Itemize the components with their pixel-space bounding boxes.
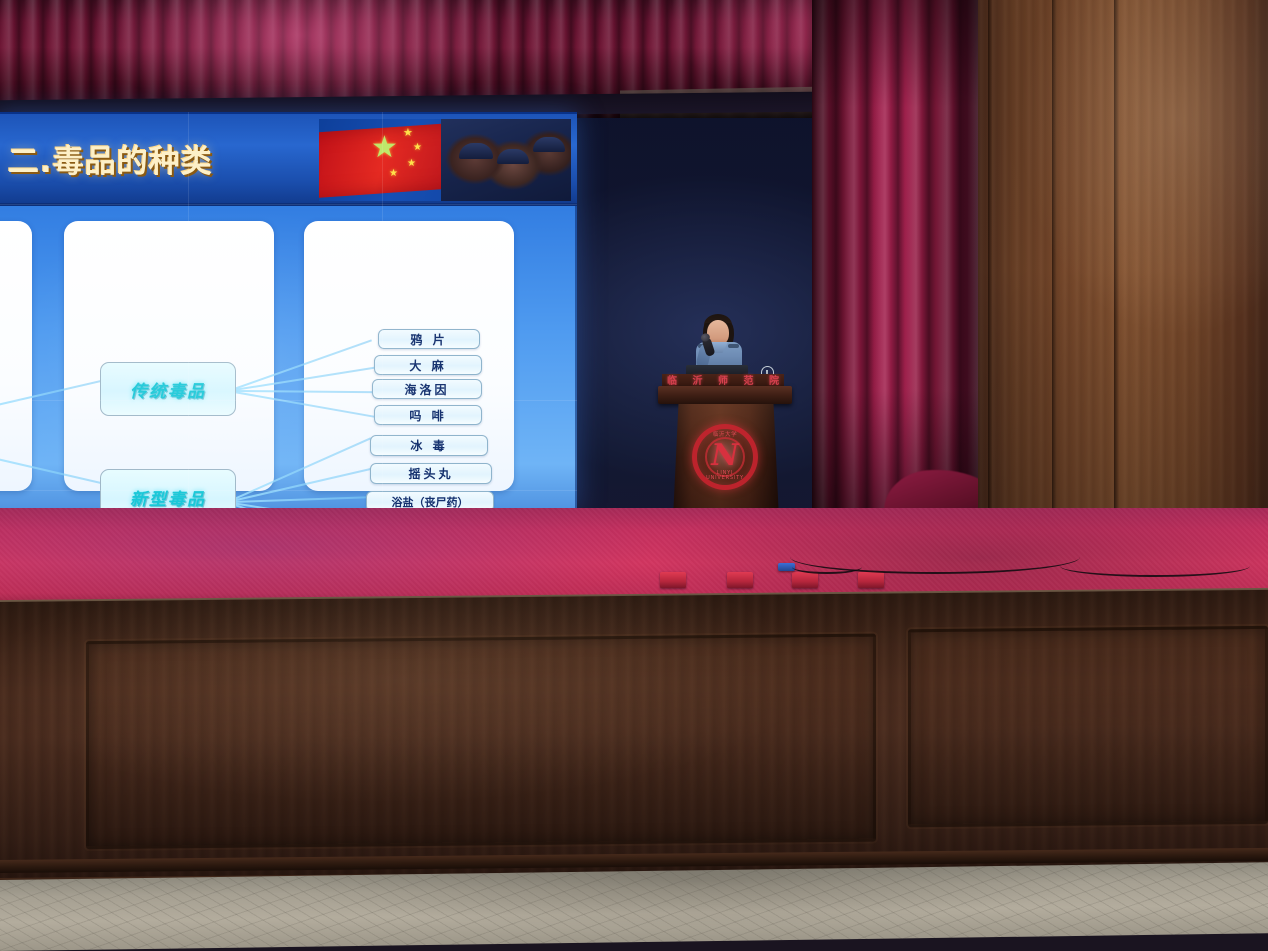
panel-card-left-partial bbox=[0, 221, 32, 491]
footlight-block bbox=[858, 572, 884, 588]
emblem-bottom-text: LINYI UNIVERSITY bbox=[697, 471, 753, 481]
epaulette-right bbox=[728, 344, 739, 348]
podium-top-surface bbox=[658, 386, 792, 404]
stage-cable-short bbox=[792, 560, 862, 574]
page-title: 二.毒品的种类 bbox=[8, 136, 213, 181]
stage-apron-wall bbox=[0, 590, 1268, 902]
panel-card-categories bbox=[64, 221, 274, 491]
flag-banner-image: ★ ★ ★ ★ ★ bbox=[319, 119, 571, 201]
slide-title-bar: 二.毒品的种类 ★ ★ ★ ★ ★ bbox=[0, 114, 577, 206]
police-cap-icon bbox=[533, 137, 565, 152]
led-panel-seam bbox=[0, 490, 577, 491]
flag-star-small: ★ bbox=[407, 159, 416, 169]
category-node-traditional[interactable]: 传统毒品 bbox=[100, 362, 236, 416]
item-box-meth[interactable]: 冰 毒 bbox=[370, 435, 488, 456]
police-cap-icon bbox=[497, 149, 529, 164]
apron-panel bbox=[908, 626, 1268, 827]
emblem-mark: N bbox=[711, 441, 738, 471]
podium-char-3: 师 bbox=[718, 377, 728, 387]
flag-star-small: ★ bbox=[389, 169, 398, 179]
university-emblem: 临沂大学 N LINYI UNIVERSITY bbox=[692, 424, 758, 490]
led-panel-seam bbox=[0, 204, 577, 205]
stage-cable-right bbox=[1060, 555, 1250, 577]
podium-char-2: 沂 bbox=[693, 377, 703, 387]
auditorium-scene: 二.毒品的种类 ★ ★ ★ ★ ★ bbox=[0, 0, 1268, 951]
podium-char-1: 临 bbox=[667, 377, 677, 387]
slide-body: 传统毒品 新型毒品 鸦 片 大 麻 海洛因 吗 啡 冰 毒 摇头丸 浴盐（丧尸药… bbox=[0, 207, 577, 512]
police-officers-photo bbox=[441, 119, 571, 201]
footlight-block bbox=[660, 572, 686, 588]
flag-star-small: ★ bbox=[413, 143, 422, 153]
flag-star-small: ★ bbox=[403, 127, 413, 138]
item-box-ecstasy[interactable]: 摇头丸 bbox=[370, 463, 492, 484]
led-panel-seam bbox=[188, 112, 189, 512]
police-cap-icon bbox=[459, 143, 493, 159]
podium-char-5: 院 bbox=[769, 377, 779, 387]
item-box-morphine[interactable]: 吗 啡 bbox=[374, 405, 482, 425]
flag-star-large: ★ bbox=[371, 133, 398, 163]
led-screen[interactable]: 二.毒品的种类 ★ ★ ★ ★ ★ bbox=[0, 112, 577, 512]
footlight-block bbox=[792, 572, 818, 588]
side-curtain bbox=[812, 0, 982, 540]
item-box-heroin[interactable]: 海洛因 bbox=[372, 379, 482, 399]
led-panel-seam bbox=[382, 112, 383, 512]
led-panel-seam bbox=[0, 400, 577, 401]
footlight-block bbox=[727, 572, 753, 588]
apron-panel bbox=[86, 634, 876, 850]
podium-char-4: 范 bbox=[744, 377, 754, 387]
item-box-cannabis[interactable]: 大 麻 bbox=[374, 355, 482, 375]
item-box-opium[interactable]: 鸦 片 bbox=[378, 329, 480, 349]
